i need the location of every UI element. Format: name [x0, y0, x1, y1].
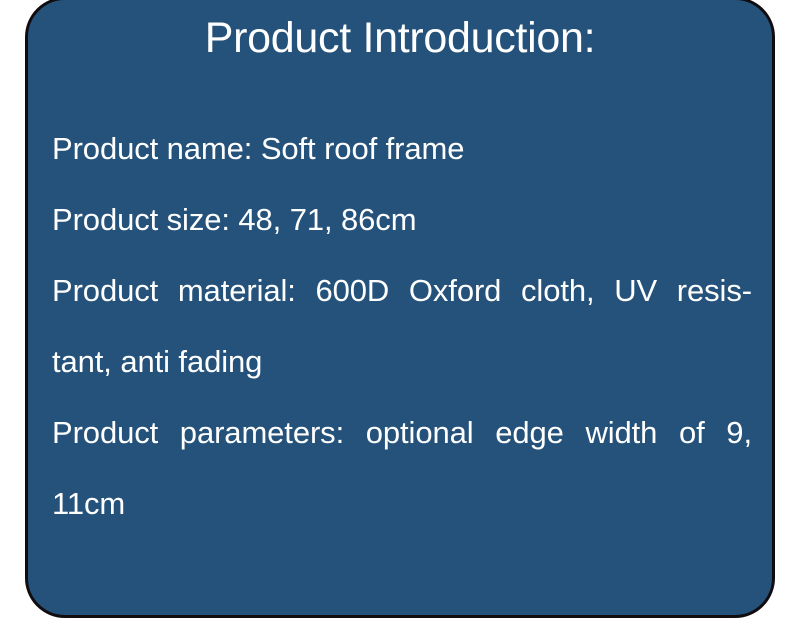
spec-word: cloth,	[521, 255, 595, 326]
spec-word: 9,	[726, 397, 752, 468]
spec-line-product-parameters-line2: 11cm	[52, 468, 752, 539]
spec-line-product-material-line2: tant, anti fading	[52, 326, 752, 397]
spec-line-product-material-line1: Productmaterial:600DOxfordcloth,UVresis-	[52, 255, 752, 326]
spec-word: optional	[366, 397, 474, 468]
spec-word: Product	[52, 397, 158, 468]
spec-word: resis-	[677, 255, 752, 326]
spec-line-product-name: Product name: Soft roof frame	[52, 113, 752, 184]
spec-word: 600D	[315, 255, 389, 326]
product-introduction-card: Product Introduction: Product name: Soft…	[25, 0, 775, 618]
spec-word: Product	[52, 255, 158, 326]
spec-word: parameters:	[180, 397, 344, 468]
spec-word: edge	[495, 397, 564, 468]
spec-word: material:	[178, 255, 296, 326]
spec-word: UV	[614, 255, 657, 326]
spec-word: width	[585, 397, 657, 468]
spec-line-product-size: Product size: 48, 71, 86cm	[52, 184, 752, 255]
spec-word: Oxford	[409, 255, 501, 326]
product-spec-list: Product name: Soft roof frameProduct siz…	[52, 113, 752, 539]
spec-line-product-parameters-line1: Productparameters:optionaledgewidthof9,	[52, 397, 752, 468]
spec-word: of	[679, 397, 705, 468]
card-title: Product Introduction:	[28, 14, 772, 63]
